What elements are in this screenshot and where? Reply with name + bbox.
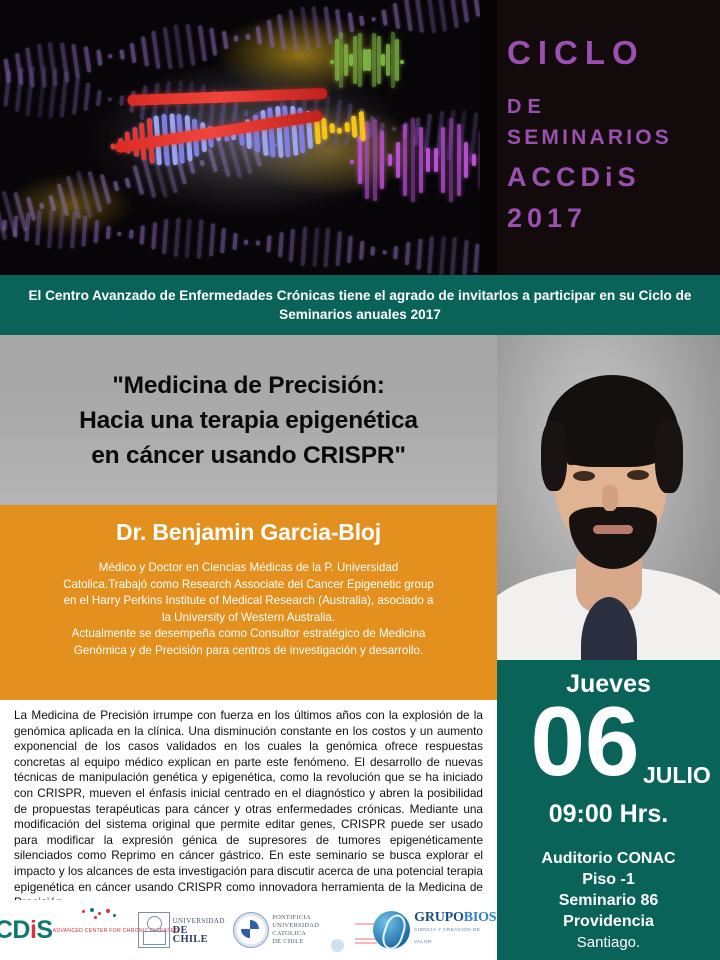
- bios-tagline: CIENCIA Y CREACIÓN DE VALOR: [414, 924, 497, 948]
- seminar-poster: CICLO DE SEMINARIOS ACCDiS 2017 El Centr…: [0, 0, 720, 960]
- main-helix-icon: [107, 76, 363, 193]
- photo-nose: [602, 485, 618, 511]
- hero-banner: CICLO DE SEMINARIOS ACCDiS 2017: [0, 0, 720, 275]
- series-title-block: CICLO DE SEMINARIOS ACCDiS 2017: [497, 0, 720, 275]
- venue-line-1: Auditorio CONAC: [497, 848, 720, 869]
- photo-eye-right: [627, 470, 649, 480]
- event-day: 06: [505, 692, 665, 790]
- speaker-panel: Dr. Benjamin Garcia-Bloj Médico y Doctor…: [0, 505, 497, 700]
- accdis-wordmark: ACCDiS: [0, 917, 53, 943]
- gobierno-de-chile-logo: [325, 911, 351, 949]
- event-month: JULIO: [643, 762, 711, 789]
- puc-wordmark: PONTIFICIA UNIVERSIDAD CATOLICA DE CHILE: [272, 914, 319, 946]
- uchile-wordmark: UNIVERSIDAD DE CHILE: [173, 917, 226, 944]
- accdis-word-s: S: [36, 916, 52, 944]
- puc-line-2: UNIVERSIDAD: [272, 922, 319, 930]
- bios-word-1: G: [414, 910, 425, 925]
- speaker-photo: [497, 335, 720, 660]
- talk-title-line-2: Hacia una terapia epigenética: [79, 407, 418, 434]
- puc-line-3: CATOLICA: [272, 930, 319, 938]
- series-title-seminarios: SEMINARIOS: [507, 126, 672, 150]
- speaker-bio-line-5: Actualmente se desempeña como Consultor …: [72, 627, 426, 640]
- series-title-de: DE: [507, 96, 547, 119]
- talk-title-panel: "Medicina de Precisión: Hacia una terapi…: [0, 335, 497, 505]
- event-time: 09:00 Hrs.: [497, 800, 720, 829]
- talk-title: "Medicina de Precisión: Hacia una terapi…: [79, 368, 418, 473]
- accdis-dots-icon: [80, 908, 120, 922]
- bios-word-3: B: [464, 910, 473, 925]
- photo-eye-left: [573, 471, 595, 481]
- speaker-bio-line-4: la University of Western Australia.: [162, 611, 335, 624]
- photo-hair-side-left: [541, 421, 567, 491]
- speaker-name: Dr. Benjamin Garcia-Bloj: [0, 505, 497, 546]
- venue-line-2: Piso -1: [497, 869, 720, 890]
- speaker-bio-line-2: Catolica.Trabajó como Research Associate…: [63, 578, 434, 591]
- series-title-accdis: ACCDiS: [507, 162, 641, 193]
- speaker-bio-line-1: Médico y Doctor en Ciencias Médicas de l…: [99, 561, 398, 574]
- venue-line-4: Providencia: [497, 911, 720, 932]
- speaker-bio-line-3: en el Harry Perkins Institute of Medical…: [64, 594, 434, 607]
- bios-word-4: IOS: [473, 910, 497, 925]
- bios-word-2: RUPO: [425, 910, 464, 925]
- event-venue: Auditorio CONAC Piso -1 Seminario 86 Pro…: [497, 848, 720, 953]
- bios-dna-icon: [373, 911, 410, 949]
- speaker-bio: Médico y Doctor en Ciencias Médicas de l…: [0, 546, 497, 659]
- bios-wordmark: GRUPOBIOS CIENCIA Y CREACIÓN DE VALOR: [414, 912, 497, 948]
- abstract-text: La Medicina de Precisión irrumpe con fue…: [0, 700, 497, 911]
- dna-crispr-illustration: [0, 0, 480, 275]
- talk-title-line-3: en cáncer usando CRISPR": [91, 442, 406, 469]
- venue-line-3: Seminario 86: [497, 890, 720, 911]
- event-details-panel: Jueves 06 JULIO 09:00 Hrs. Auditorio CON…: [497, 660, 720, 960]
- puc-line-1: PONTIFICIA: [272, 914, 319, 922]
- uchile-crest-icon: [138, 912, 170, 948]
- accdis-word-a: ACCD: [0, 916, 30, 944]
- grupo-bios-logo: GRUPOBIOS CIENCIA Y CREACIÓN DE VALOR: [373, 911, 497, 949]
- invitation-text: El Centro Avanzado de Enfermedades Cróni…: [0, 286, 720, 324]
- venue-city: Santiago.: [497, 932, 720, 953]
- speaker-bio-line-6: Genómica y de Precisión para centros de …: [74, 644, 423, 657]
- abstract-panel: La Medicina de Precisión irrumpe con fue…: [0, 700, 497, 900]
- sponsor-logo-strip: ACCDiS ADVANCED CENTER FOR CHRONIC DISEA…: [0, 900, 497, 960]
- pontificia-universidad-catolica-logo: PONTIFICIA UNIVERSIDAD CATOLICA DE CHILE: [233, 912, 319, 948]
- puc-line-4: DE CHILE: [272, 938, 319, 946]
- series-title-ciclo: CICLO: [507, 34, 645, 72]
- universidad-de-chile-logo: UNIVERSIDAD DE CHILE: [138, 912, 225, 948]
- talk-title-line-1: "Medicina de Precisión:: [112, 372, 385, 399]
- magenta-helix-icon: [350, 105, 480, 215]
- photo-hair-side-right: [655, 419, 683, 493]
- invitation-banner: El Centro Avanzado de Enfermedades Cróni…: [0, 275, 720, 335]
- puc-seal-icon: [233, 912, 269, 948]
- uchile-line-2: DE CHILE: [173, 926, 226, 944]
- accdis-logo: ACCDiS ADVANCED CENTER FOR CHRONIC DISEA…: [14, 917, 124, 943]
- photo-mouth: [593, 525, 633, 534]
- series-title-year: 2017: [507, 203, 587, 234]
